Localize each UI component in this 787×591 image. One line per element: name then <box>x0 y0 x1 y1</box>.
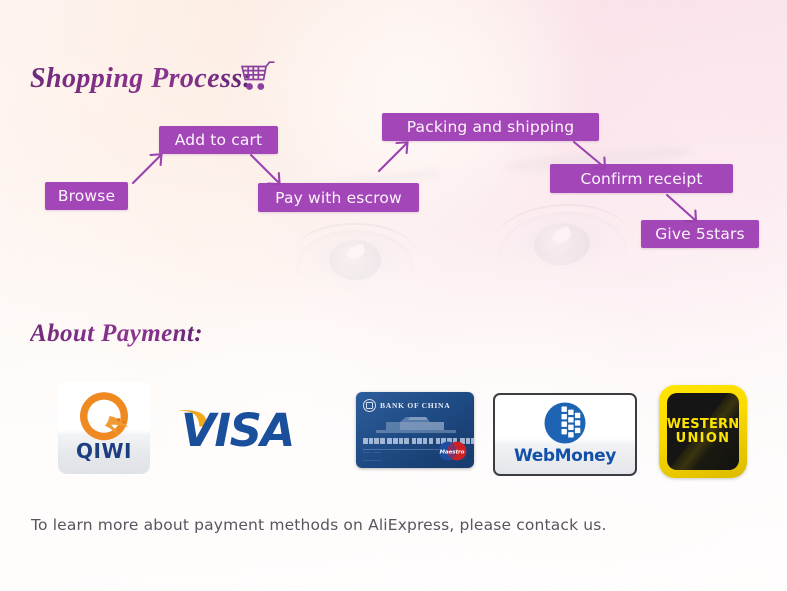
webmoney-wordmark: WebMoney <box>495 446 635 466</box>
visa-logo-icon: VISA <box>175 398 338 453</box>
payment-logo-webmoney[interactable]: WebMoney <box>493 393 637 476</box>
bank-of-china-wordmark: BANK OF CHINA <box>380 401 450 410</box>
bank-building-illustration-icon <box>370 413 462 435</box>
boc-holder-label: ········· <box>363 458 381 464</box>
qiwi-wordmark: QIWI <box>58 439 150 463</box>
footer-note: To learn more about payment methods on A… <box>31 516 607 534</box>
qiwi-logo-icon <box>76 389 133 446</box>
svg-text:Maestro: Maestro <box>440 449 465 455</box>
payment-logo-qiwi[interactable]: QIWI <box>58 382 150 474</box>
arrow-down-right-icon-packing-to-confirm <box>571 139 611 172</box>
western-union-wordmark-line1: WESTERN <box>667 418 739 431</box>
western-union-wordmark-line2: UNION <box>676 432 731 445</box>
boc-header: BANK OF CHINA <box>363 399 450 412</box>
maestro-logo-icon: Maestro <box>435 440 469 462</box>
arrow-down-right-icon-cart-to-escrow <box>247 152 285 188</box>
arrow-down-right-icon-confirm-to-stars <box>664 192 702 225</box>
bank-of-china-emblem-icon <box>363 399 376 412</box>
flow-step-add-to-cart[interactable]: Add to cart <box>159 126 278 154</box>
about-payment-heading: About Payment: <box>30 320 203 348</box>
arrow-up-right-icon-browse-to-cart <box>130 150 168 186</box>
webmoney-logo-icon <box>542 400 588 446</box>
payment-logo-bank-of-china[interactable]: BANK OF CHINA ···· ···· ········· <box>356 392 474 468</box>
payment-logo-visa[interactable]: VISA VISA <box>175 398 338 453</box>
boc-valid-label: ···· ···· <box>363 450 381 456</box>
flow-step-packing-and-shipping[interactable]: Packing and shipping <box>382 113 599 141</box>
western-union-logo-icon: WESTERN UNION <box>667 393 739 470</box>
arrow-up-right-icon-escrow-to-packing <box>376 138 414 174</box>
shopping-cart-icon <box>239 59 277 96</box>
payment-logo-western-union[interactable]: WESTERN UNION <box>659 385 747 478</box>
shopping-process-heading: Shopping Process: <box>30 63 252 95</box>
svg-text:VISA: VISA <box>181 404 294 453</box>
flow-step-browse[interactable]: Browse <box>45 182 128 210</box>
promo-banner: Shopping Process: Browse Add to cart Pay… <box>0 0 787 591</box>
